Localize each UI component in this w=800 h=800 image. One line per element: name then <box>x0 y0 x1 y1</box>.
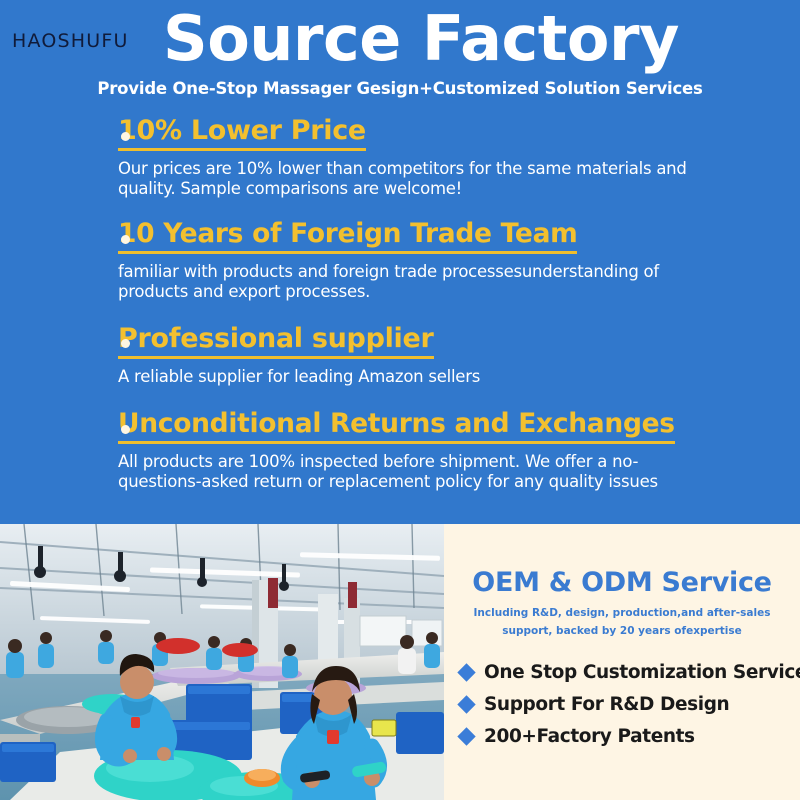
diamond-bullet-icon <box>457 727 475 745</box>
oem-panel-subtitle: Including R&D, design, production,and af… <box>444 604 800 640</box>
bullet-dot-icon <box>121 132 130 141</box>
oem-list-item-label: One Stop Customization Service <box>484 662 800 683</box>
feature-item-foreign-trade-team: 10 Years of Foreign Trade Team familiar … <box>0 219 800 302</box>
source-factory-poster: HAOSHUFU Source Factory Provide One-Stop… <box>0 0 800 800</box>
oem-list-item: One Stop Customization Service <box>460 656 800 688</box>
oem-subtitle-line-1: Including R&D, design, production,and af… <box>458 604 786 622</box>
diamond-bullet-icon <box>457 695 475 713</box>
feature-item-lower-price: 10% Lower Price Our prices are 10% lower… <box>0 116 800 199</box>
page-title: Source Factory <box>0 6 800 72</box>
oem-feature-list: One Stop Customization Service Support F… <box>444 656 800 752</box>
oem-panel-title: OEM & ODM Service <box>444 567 800 598</box>
oem-list-item: Support For R&D Design <box>460 688 800 720</box>
oem-list-item-label: 200+Factory Patents <box>484 726 695 747</box>
feature-heading: Professional supplier <box>118 324 434 359</box>
poster-bottom-section: OEM & ODM Service Including R&D, design,… <box>0 524 800 800</box>
feature-heading: 10% Lower Price <box>118 116 366 151</box>
feature-item-professional-supplier: Professional supplier A reliable supplie… <box>0 324 800 387</box>
feature-item-returns-exchanges: Unconditional Returns and Exchanges All … <box>0 409 800 492</box>
diamond-bullet-icon <box>457 663 475 681</box>
factory-photo-illustration <box>0 524 444 800</box>
page-subtitle: Provide One-Stop Massager Gesign+Customi… <box>0 79 800 98</box>
feature-list: 10% Lower Price Our prices are 10% lower… <box>0 108 800 492</box>
feature-body: Our prices are 10% lower than competitor… <box>118 159 698 199</box>
feature-body: familiar with products and foreign trade… <box>118 262 698 302</box>
feature-body: A reliable supplier for leading Amazon s… <box>118 367 698 387</box>
oem-list-item: 200+Factory Patents <box>460 720 800 752</box>
bullet-dot-icon <box>121 339 130 348</box>
bullet-dot-icon <box>121 235 130 244</box>
poster-header: HAOSHUFU Source Factory Provide One-Stop… <box>0 0 800 108</box>
feature-body: All products are 100% inspected before s… <box>118 452 698 492</box>
oem-subtitle-line-2: support, backed by 20 years ofexpertise <box>458 622 786 640</box>
factory-photo <box>0 524 444 800</box>
oem-odm-panel: OEM & ODM Service Including R&D, design,… <box>444 524 800 800</box>
oem-list-item-label: Support For R&D Design <box>484 694 729 715</box>
feature-heading: Unconditional Returns and Exchanges <box>118 409 675 444</box>
feature-heading: 10 Years of Foreign Trade Team <box>118 219 577 254</box>
bullet-dot-icon <box>121 425 130 434</box>
